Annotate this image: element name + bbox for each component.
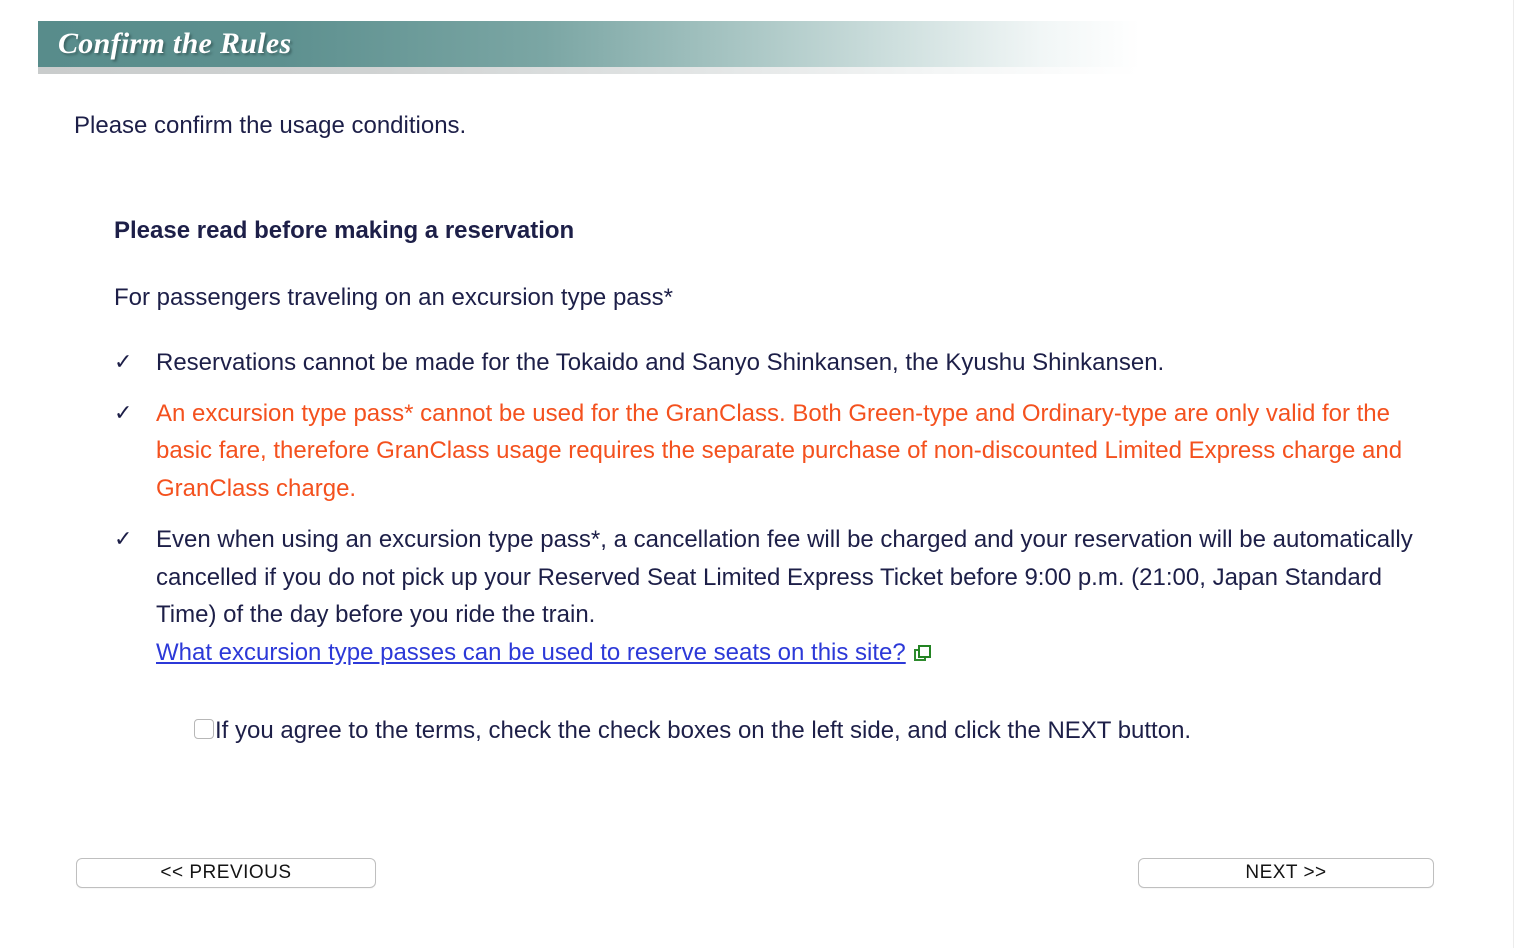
excursion-pass-info-link[interactable]: What excursion type passes can be used t…	[156, 639, 906, 666]
rules-block: Please read before making a reservation …	[114, 215, 1420, 746]
navigation-button-row: << PREVIOUS NEXT >>	[0, 858, 1520, 892]
page-title: Confirm the Rules	[58, 27, 291, 61]
rule-item-2-text: An excursion type pass* cannot be used f…	[156, 400, 1402, 502]
check-mark-icon: ✓	[114, 522, 132, 556]
section-heading: Please read before making a reservation	[114, 215, 1420, 246]
external-link-icon[interactable]	[914, 645, 931, 662]
header-shadow-divider	[38, 67, 1140, 74]
intro-text: Please confirm the usage conditions.	[74, 110, 1520, 141]
rules-list: ✓ Reservations cannot be made for the To…	[114, 344, 1420, 672]
main-content: Please confirm the usage conditions. Ple…	[0, 110, 1520, 746]
agree-row: If you agree to the terms, check the che…	[190, 715, 1420, 746]
next-button[interactable]: NEXT >>	[1138, 858, 1434, 888]
agree-checkbox[interactable]	[194, 719, 214, 739]
previous-button[interactable]: << PREVIOUS	[76, 858, 376, 888]
rule-item-3: ✓ Even when using an excursion type pass…	[114, 521, 1420, 671]
page-header-banner: Confirm the Rules	[38, 21, 1140, 67]
rule-item-2: ✓ An excursion type pass* cannot be used…	[114, 395, 1420, 507]
agree-label: If you agree to the terms, check the che…	[215, 715, 1191, 746]
rule-item-3-text: Even when using an excursion type pass*,…	[156, 526, 1413, 628]
rule-item-3-link-line: What excursion type passes can be used t…	[156, 634, 1420, 671]
check-mark-icon: ✓	[114, 396, 132, 430]
section-subheading: For passengers traveling on an excursion…	[114, 282, 1420, 313]
rule-item-1: ✓ Reservations cannot be made for the To…	[114, 344, 1420, 381]
check-mark-icon: ✓	[114, 345, 132, 379]
rule-item-1-text: Reservations cannot be made for the Toka…	[156, 349, 1164, 376]
